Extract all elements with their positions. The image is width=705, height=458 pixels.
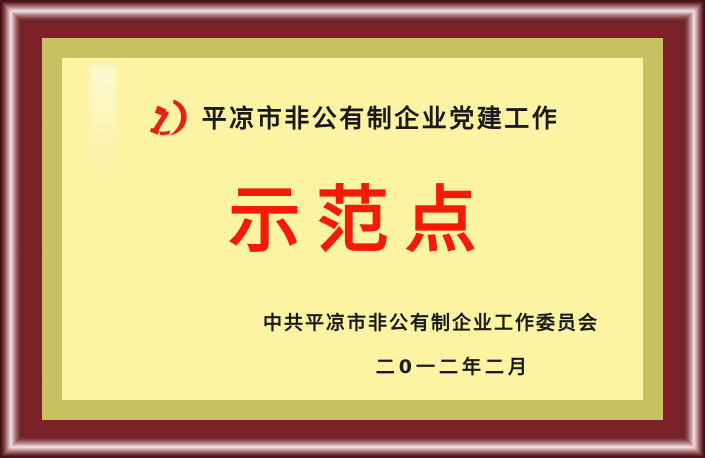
frame-moulding-left [0,0,42,458]
issuer-name: 中共平凉市非公有制企业工作委员会 [263,308,599,335]
plaque-face: 平凉市非公有制企业党建工作 示范点 中共平凉市非公有制企业工作委员会 二0一二年… [62,58,643,400]
plaque-mat-border: 平凉市非公有制企业党建工作 示范点 中共平凉市非公有制企业工作委员会 二0一二年… [42,38,663,420]
frame-moulding-top [0,0,705,42]
title-row: 平凉市非公有制企业党建工作 [62,96,643,140]
award-plaque: 平凉市非公有制企业党建工作 示范点 中共平凉市非公有制企业工作委员会 二0一二年… [0,0,705,458]
frame-moulding-right [663,0,705,458]
award-main-text: 示范点 [62,184,643,256]
hammer-and-sickle-icon [146,96,190,140]
award-title: 平凉市非公有制企业党建工作 [202,106,560,131]
plaque-inscription: 平凉市非公有制企业党建工作 示范点 中共平凉市非公有制企业工作委员会 二0一二年… [62,58,643,400]
frame-moulding-bottom [0,416,705,458]
issue-date: 二0一二年二月 [376,352,531,379]
